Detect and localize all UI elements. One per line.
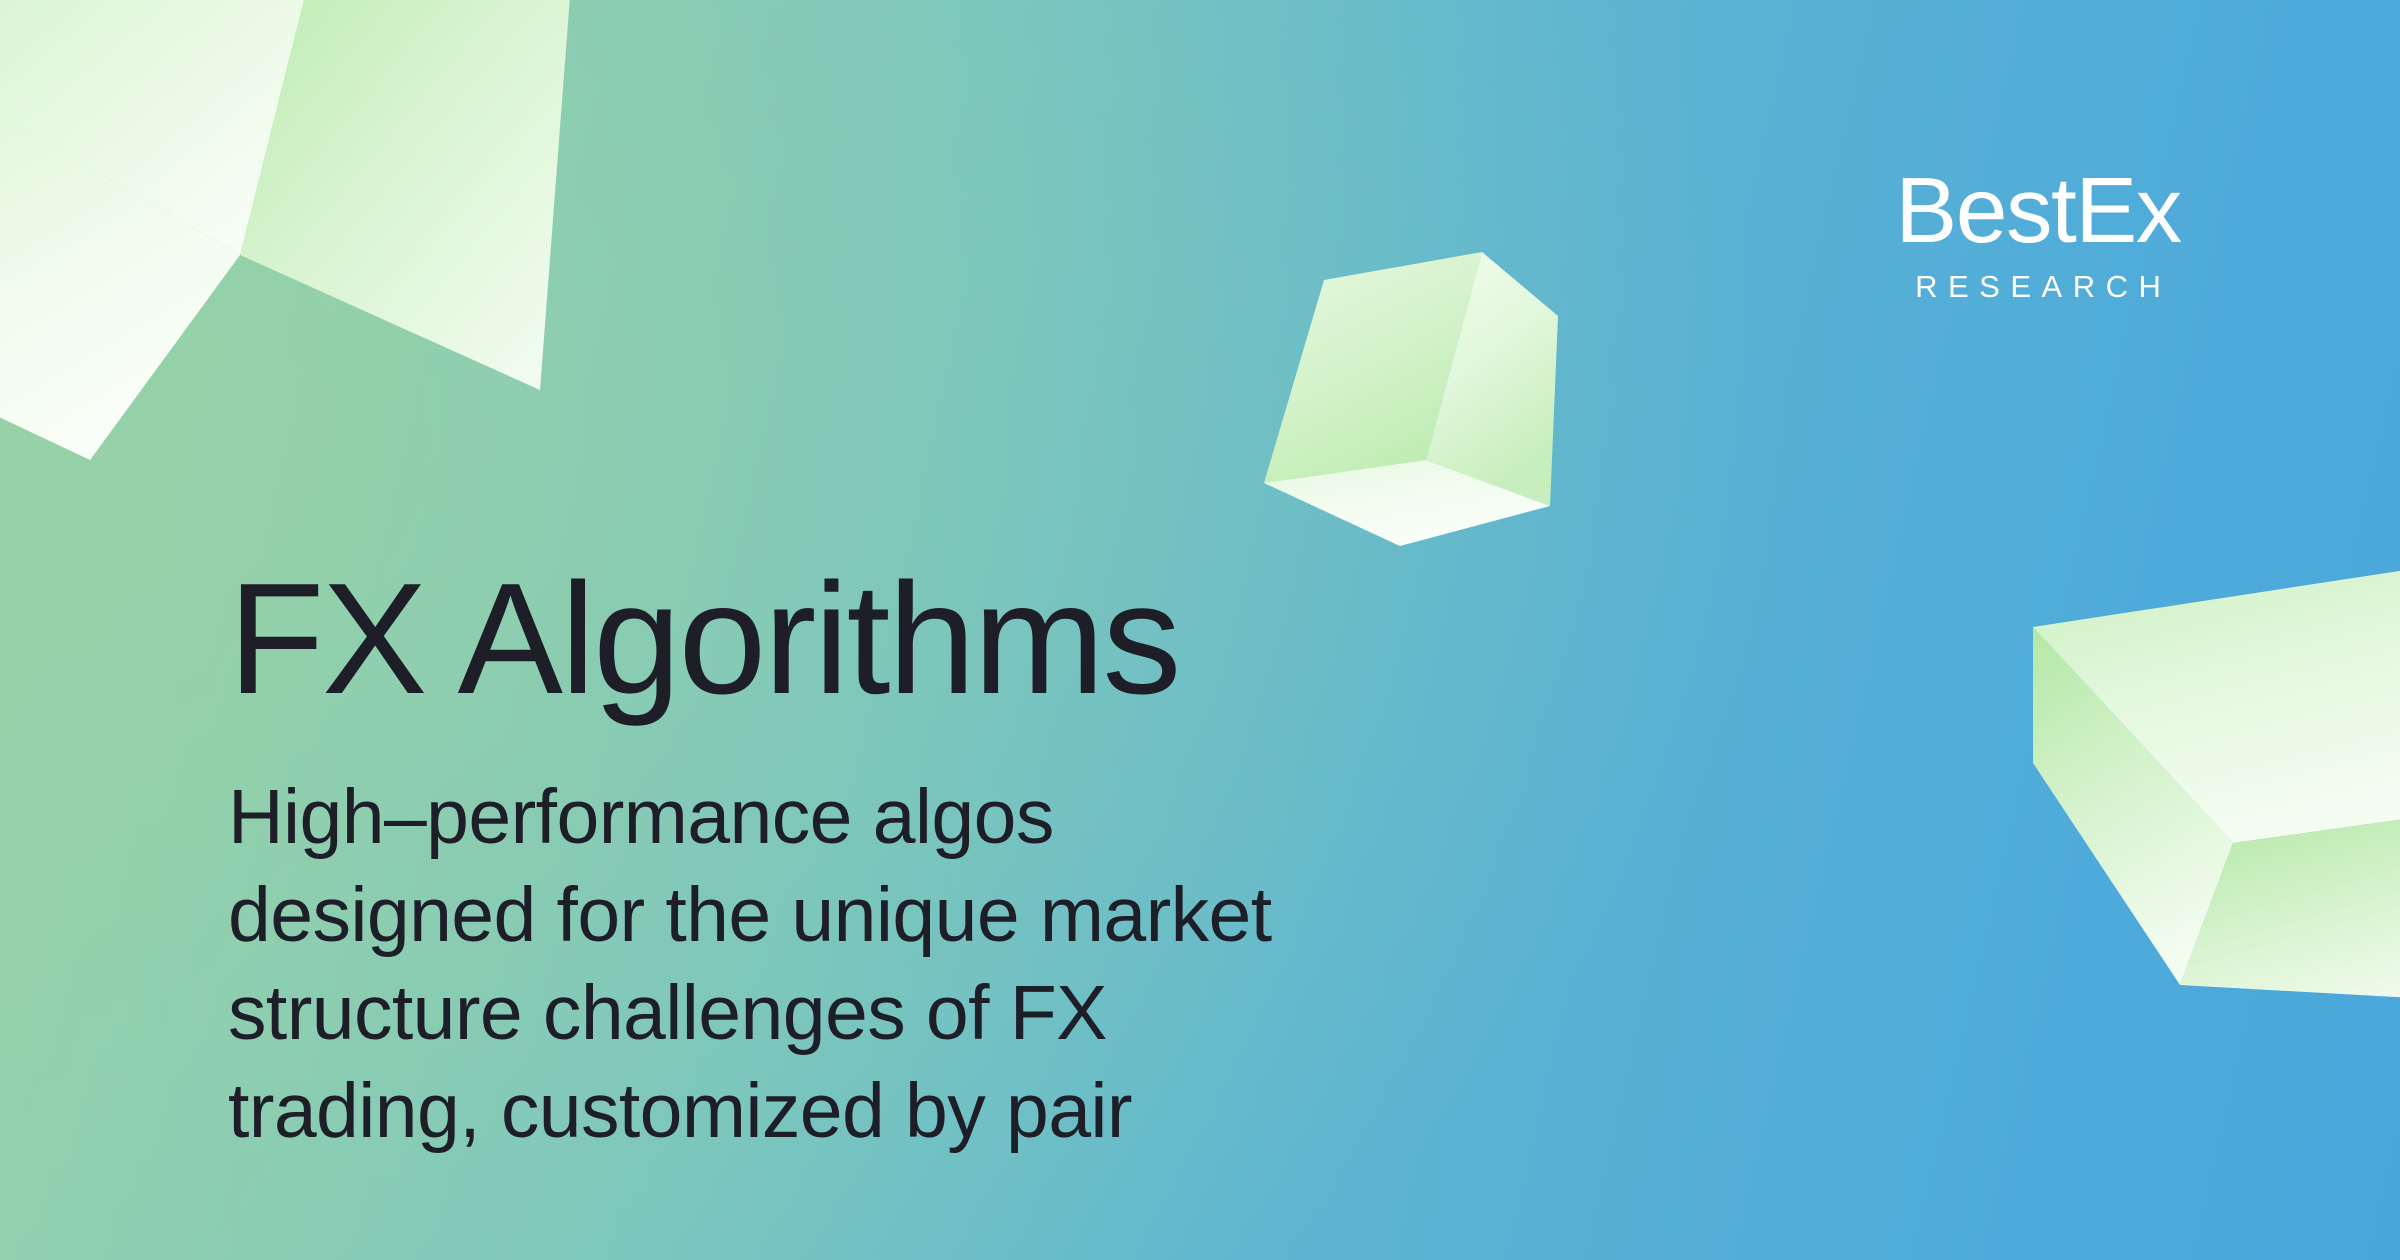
hero-copy: FX Algorithms High–performance algos des… bbox=[228, 560, 1628, 1160]
hero-banner: BestEx RESEARCH FX Algorithms High–perfo… bbox=[0, 0, 2400, 1260]
page-subtitle: High–performance algos designed for the … bbox=[228, 718, 1298, 1160]
logo-tagline: RESEARCH bbox=[1858, 271, 2218, 302]
page-title: FX Algorithms bbox=[228, 560, 1628, 718]
brand-logo[interactable]: BestEx RESEARCH bbox=[1858, 168, 2218, 302]
logo-wordmark: BestEx bbox=[1858, 168, 2218, 254]
